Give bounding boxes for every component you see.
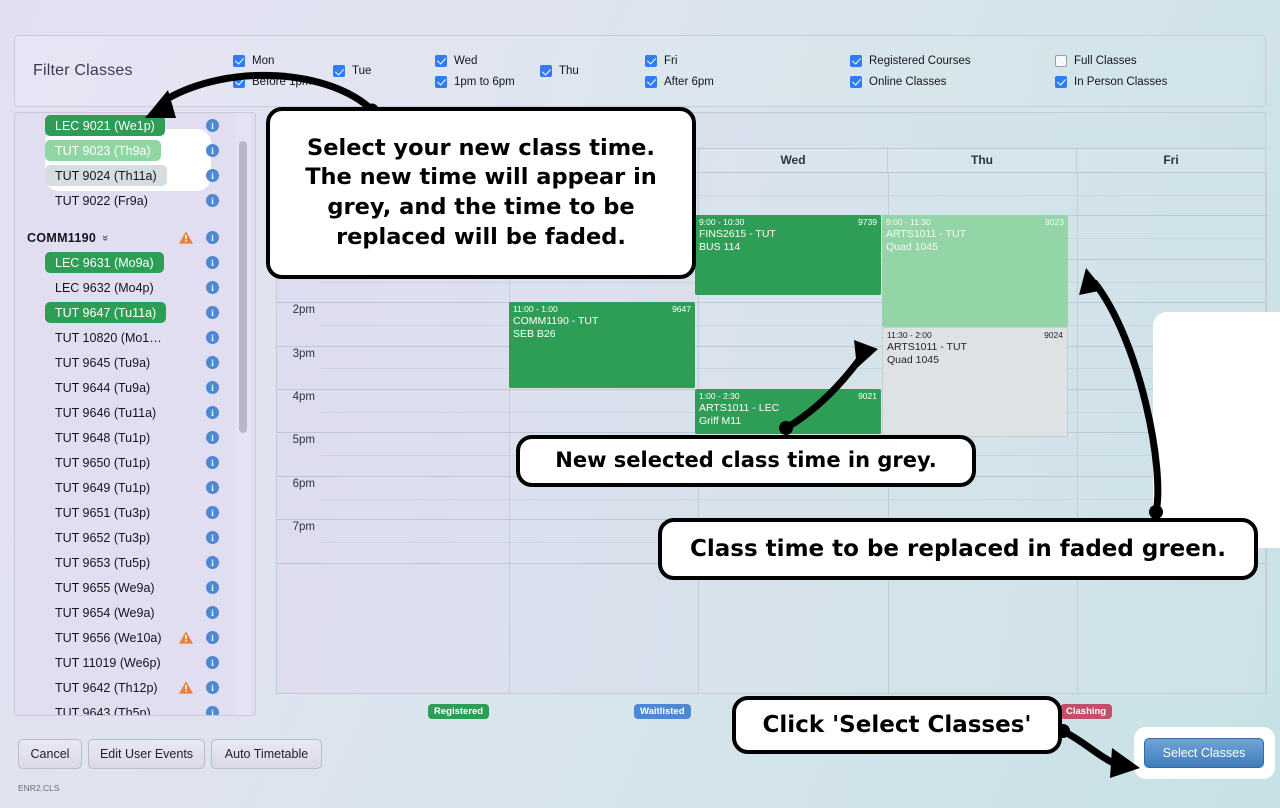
info-icon[interactable]: i (206, 481, 219, 494)
info-icon[interactable]: i (206, 631, 219, 644)
class-label: TUT 11019 (We6p) (45, 652, 171, 673)
day-header-wed: Wed (699, 149, 888, 172)
day-header-thu: Thu (888, 149, 1077, 172)
auto-timetable-button[interactable]: Auto Timetable (211, 739, 322, 769)
class-label: TUT 9646 (Tu11a) (45, 402, 166, 423)
class-list-item[interactable]: TUT 9652 (Tu3p)i (15, 525, 241, 550)
info-icon[interactable]: i (206, 331, 219, 344)
filter-checkbox-before-1pm[interactable]: Before 1pm (233, 76, 333, 88)
filter-group-wed: Wed 1pm to 6pm (435, 55, 540, 88)
calendar-event-9739[interactable]: 9:00 - 10:30FINS2615 - TUTBUS 1149739 (695, 215, 881, 295)
class-list-item[interactable]: LEC 9631 (Mo9a)i (15, 250, 241, 275)
class-label: TUT 9644 (Tu9a) (45, 377, 160, 398)
filter-group-availability: Full Classes In Person Classes (1055, 55, 1255, 88)
callout-faded-green: Class time to be replaced in faded green… (658, 518, 1258, 580)
day-header-fri: Fri (1077, 149, 1265, 172)
info-icon[interactable]: i (206, 656, 219, 669)
filter-label: Thu (559, 65, 579, 77)
info-icon[interactable]: i (206, 119, 219, 132)
filter-label: 1pm to 6pm (454, 76, 515, 88)
filter-label: Online Classes (869, 76, 946, 88)
class-label: TUT 9643 (Th5p) (45, 702, 161, 716)
course-code-label: COMM1190 (27, 231, 96, 245)
half-hour-line (321, 325, 1265, 326)
filter-bar: Filter Classes Mon Before 1pm Tue Wed 1p… (14, 35, 1266, 107)
class-label: TUT 9642 (Th12p) (45, 677, 168, 698)
filter-group-fri: Fri After 6pm (645, 55, 850, 88)
class-list-item[interactable]: TUT 9653 (Tu5p)i (15, 550, 241, 575)
edit-user-events-button[interactable]: Edit User Events (88, 739, 205, 769)
filter-label: In Person Classes (1074, 76, 1167, 88)
event-id: 9739 (858, 217, 877, 227)
half-hour-line (321, 499, 1265, 500)
calendar-event-9023[interactable]: 9:00 - 11:30ARTS1011 - TUTQuad 10459023 (882, 215, 1068, 327)
filter-checkbox-fri[interactable]: Fri (645, 55, 850, 67)
checkbox-icon[interactable] (850, 55, 862, 67)
cancel-button[interactable]: Cancel (18, 739, 82, 769)
info-icon[interactable]: i (206, 431, 219, 444)
info-icon[interactable]: i (206, 169, 219, 182)
event-time: 11:30 - 2:00 (887, 330, 1063, 341)
class-list-item[interactable]: TUT 9656 (We10a)i (15, 625, 241, 650)
legend-clashing: Clashing (1060, 704, 1112, 719)
checkbox-icon[interactable] (1055, 55, 1067, 67)
hour-label: 4pm (277, 391, 315, 403)
info-icon[interactable]: i (206, 531, 219, 544)
filter-checkbox-mon[interactable]: Mon (233, 55, 333, 67)
info-icon[interactable]: i (206, 581, 219, 594)
class-label: TUT 9647 (Tu11a) (45, 302, 166, 323)
warning-icon (179, 681, 193, 694)
filter-checkbox-wed[interactable]: Wed (435, 55, 540, 67)
filter-group-mon: Mon Before 1pm (233, 55, 333, 88)
checkbox-icon[interactable] (850, 76, 862, 88)
event-time: 1:00 - 2:30 (699, 391, 877, 402)
filter-label: After 6pm (664, 76, 714, 88)
chevron-down-icon[interactable]: » (99, 234, 111, 240)
class-list-item[interactable]: TUT 9023 (Th9a)i (15, 138, 241, 163)
class-label: TUT 9653 (Tu5p) (45, 552, 160, 573)
callout-select-new-class-time: Select your new class time. The new time… (266, 107, 696, 279)
class-list-item[interactable]: TUT 9643 (Th5p)i (15, 700, 241, 716)
checkbox-icon[interactable] (645, 76, 657, 88)
class-list-sidebar[interactable]: LEC 9021 (We1p)iTUT 9023 (Th9a)iTUT 9024… (14, 112, 256, 716)
info-icon[interactable]: i (206, 231, 219, 244)
filter-label: Fri (664, 55, 677, 67)
class-label: LEC 9631 (Mo9a) (45, 252, 164, 273)
event-id: 9021 (858, 391, 877, 401)
filter-checkbox-registered-courses[interactable]: Registered Courses (850, 55, 1055, 67)
checkbox-icon[interactable] (233, 76, 245, 88)
class-label: TUT 9024 (Th11a) (45, 165, 167, 186)
filter-label: Full Classes (1074, 55, 1137, 67)
class-list-item[interactable]: TUT 9642 (Th12p)i (15, 675, 241, 700)
class-list-item[interactable]: TUT 9654 (We9a)i (15, 600, 241, 625)
filter-checkbox-in-person-classes[interactable]: In Person Classes (1055, 76, 1255, 88)
class-label: TUT 9654 (We9a) (45, 602, 165, 623)
info-icon[interactable]: i (206, 406, 219, 419)
legend-waitlisted: Waitlisted (634, 704, 691, 719)
warning-icon (179, 231, 193, 244)
class-list-item[interactable]: LEC 9021 (We1p)i (15, 113, 241, 138)
hour-label: 7pm (277, 521, 315, 533)
checkbox-icon[interactable] (1055, 76, 1067, 88)
hour-label: 3pm (277, 348, 315, 360)
class-label: TUT 9650 (Tu1p) (45, 452, 160, 473)
filter-label: Tue (352, 65, 371, 77)
class-label: TUT 9023 (Th9a) (45, 140, 161, 161)
info-icon[interactable]: i (206, 306, 219, 319)
class-list-item[interactable]: TUT 9648 (Tu1p)i (15, 425, 241, 450)
footer-code: ENR2.CLS (18, 783, 60, 793)
info-icon[interactable]: i (206, 256, 219, 269)
info-icon[interactable]: i (206, 556, 219, 569)
course-list: LEC 9021 (We1p)iTUT 9023 (Th9a)iTUT 9024… (15, 113, 241, 716)
event-id: 9647 (672, 304, 691, 314)
event-time: 9:00 - 11:30 (886, 217, 1064, 228)
class-list-item[interactable]: TUT 9022 (Fr9a)i (15, 188, 241, 213)
class-label: TUT 9649 (Tu1p) (45, 477, 160, 498)
info-icon[interactable]: i (206, 144, 219, 157)
filter-checkbox-tue[interactable]: Tue (333, 65, 435, 77)
class-list-item[interactable]: TUT 9649 (Tu1p)i (15, 475, 241, 500)
event-name: COMM1190 - TUT (513, 315, 691, 328)
class-list-item[interactable]: TUT 9645 (Tu9a)i (15, 350, 241, 375)
info-icon[interactable]: i (206, 281, 219, 294)
filter-classes-title: Filter Classes (33, 62, 233, 80)
calendar-event-9647[interactable]: 11:00 - 1:00COMM1190 - TUTSEB B269647 (509, 302, 695, 388)
calendar-event-9024[interactable]: 11:30 - 2:00ARTS1011 - TUTQuad 10459024 (882, 327, 1068, 437)
class-list-item[interactable]: TUT 10820 (Mo1…i (15, 325, 241, 350)
info-icon[interactable]: i (206, 194, 219, 207)
info-icon[interactable]: i (206, 706, 219, 716)
course-group-row[interactable]: COMM1190»i (15, 225, 241, 250)
info-icon[interactable]: i (206, 681, 219, 694)
class-list-item[interactable]: TUT 9644 (Tu9a)i (15, 375, 241, 400)
info-icon[interactable]: i (206, 381, 219, 394)
event-room: Quad 1045 (887, 354, 1063, 367)
callout-new-selected-grey: New selected class time in grey. (516, 435, 976, 487)
filter-label: Before 1pm (252, 76, 311, 88)
event-name: ARTS1011 - TUT (886, 228, 1064, 241)
event-id: 9023 (1045, 217, 1064, 227)
class-list-item[interactable]: TUT 11019 (We6p)i (15, 650, 241, 675)
checkbox-icon[interactable] (333, 65, 345, 77)
class-label: TUT 9656 (We10a) (45, 627, 172, 648)
class-list-item[interactable]: TUT 9647 (Tu11a)i (15, 300, 241, 325)
info-icon[interactable]: i (206, 456, 219, 469)
class-list-item[interactable]: TUT 9024 (Th11a)i (15, 163, 241, 188)
event-id: 9024 (1044, 330, 1063, 340)
class-list-item[interactable]: LEC 9632 (Mo4p)i (15, 275, 241, 300)
filter-group-courses: Registered Courses Online Classes (850, 55, 1055, 88)
filter-checkbox-full-classes[interactable]: Full Classes (1055, 55, 1255, 67)
class-label: LEC 9021 (We1p) (45, 115, 165, 136)
list-spacer (15, 213, 241, 225)
hour-label: 5pm (277, 434, 315, 446)
info-icon[interactable]: i (206, 506, 219, 519)
checkbox-icon[interactable] (435, 55, 447, 67)
select-classes-button[interactable]: Select Classes (1144, 738, 1264, 768)
event-room: SEB B26 (513, 328, 691, 341)
checkbox-icon[interactable] (645, 55, 657, 67)
class-list-item[interactable]: TUT 9651 (Tu3p)i (15, 500, 241, 525)
filter-group-thu: Thu (540, 65, 645, 77)
filter-checkbox-after-6pm[interactable]: After 6pm (645, 76, 850, 88)
class-label: TUT 9652 (Tu3p) (45, 527, 160, 548)
filter-checkbox-thu[interactable]: Thu (540, 65, 645, 77)
hour-label: 6pm (277, 478, 315, 490)
event-room: BUS 114 (699, 241, 877, 254)
event-name: ARTS1011 - LEC (699, 402, 877, 415)
arrow-to-select-button (1063, 731, 1120, 766)
event-name: FINS2615 - TUT (699, 228, 877, 241)
half-hour-line (321, 368, 1265, 369)
legend-registered: Registered (428, 704, 489, 719)
class-list-item[interactable]: TUT 9655 (We9a)i (15, 575, 241, 600)
class-label: TUT 9651 (Tu3p) (45, 502, 160, 523)
filter-label: Wed (454, 55, 477, 67)
class-list-item[interactable]: TUT 9646 (Tu11a)i (15, 400, 241, 425)
sidebar-scrollbar-thumb[interactable] (239, 141, 247, 433)
checkbox-icon[interactable] (435, 76, 447, 88)
filter-label: Mon (252, 55, 274, 67)
filter-checkbox-1pm-to-6pm[interactable]: 1pm to 6pm (435, 76, 540, 88)
callout-click-select-classes: Click 'Select Classes' (732, 696, 1062, 754)
class-label: TUT 9648 (Tu1p) (45, 427, 160, 448)
class-label: LEC 9632 (Mo4p) (45, 277, 164, 298)
event-name: ARTS1011 - TUT (887, 341, 1063, 354)
checkbox-icon[interactable] (540, 65, 552, 77)
event-room: Quad 1045 (886, 241, 1064, 254)
event-room: Griff M11 (699, 415, 877, 428)
warning-icon (179, 631, 193, 644)
filter-group-tue: Tue (333, 65, 435, 77)
filter-label: Registered Courses (869, 55, 971, 67)
info-icon[interactable]: i (206, 606, 219, 619)
hour-label: 2pm (277, 304, 315, 316)
info-icon[interactable]: i (206, 356, 219, 369)
checkbox-icon[interactable] (233, 55, 245, 67)
class-label: TUT 9645 (Tu9a) (45, 352, 160, 373)
class-label: TUT 9022 (Fr9a) (45, 190, 158, 211)
event-time: 11:00 - 1:00 (513, 304, 691, 315)
class-list-item[interactable]: TUT 9650 (Tu1p)i (15, 450, 241, 475)
class-label: TUT 9655 (We9a) (45, 577, 165, 598)
calendar-event-9021[interactable]: 1:00 - 2:30ARTS1011 - LECGriff M119021 (695, 389, 881, 434)
filter-checkbox-online-classes[interactable]: Online Classes (850, 76, 1055, 88)
thursday-selection-halo (1153, 312, 1280, 548)
class-label: TUT 10820 (Mo1… (45, 327, 172, 348)
event-time: 9:00 - 10:30 (699, 217, 877, 228)
